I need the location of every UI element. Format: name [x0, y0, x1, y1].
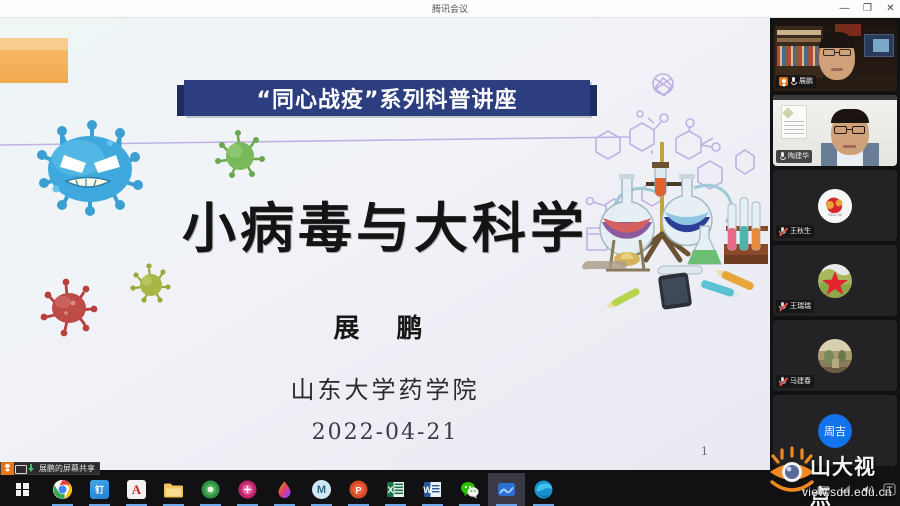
powerpoint-icon: P — [349, 480, 368, 499]
participant-name: 陶建华 — [788, 150, 809, 163]
participant-label: 马建春 — [776, 375, 814, 388]
screen-share-text: 展鹏的屏幕共享 — [37, 463, 95, 474]
participant-tile[interactable]: 马建春 — [773, 320, 897, 391]
word-icon: W — [423, 480, 442, 499]
participant-tile[interactable]: 周吉 — [773, 395, 897, 466]
maximize-button[interactable]: ❐ — [862, 0, 873, 18]
mic-muted-icon — [779, 227, 788, 236]
blue-app-icon: 钉 — [90, 480, 109, 499]
svg-text:W: W — [423, 485, 432, 495]
taskbar-item-mendeley[interactable]: M — [303, 473, 340, 506]
wifi-icon[interactable] — [839, 483, 852, 496]
green-app-icon — [201, 480, 220, 499]
windows-logo-icon — [16, 483, 29, 496]
participant-name: 展鹏 — [799, 75, 813, 88]
taskbar-item-acrobat[interactable]: A — [118, 473, 155, 506]
taskbar-item-edge[interactable] — [525, 473, 562, 506]
svg-text:SDU 50: SDU 50 — [828, 212, 843, 217]
mic-icon — [779, 152, 786, 161]
minimize-button[interactable]: — — [839, 0, 850, 18]
slide-date: 2022-04-21 — [0, 420, 770, 445]
participant-label: 展鹏 — [776, 75, 816, 88]
participant-label: 王瑞瑞 — [776, 300, 814, 313]
avatar-initials: 周吉 — [818, 414, 852, 448]
window-title: 腾讯会议 — [0, 0, 900, 18]
shared-screen-stage[interactable]: “同心战疫”系列科普讲座 — [0, 18, 770, 473]
taskbar-item-chrome[interactable] — [44, 473, 81, 506]
network-icon[interactable] — [817, 483, 830, 496]
taskbar-item-excel[interactable]: X — [377, 473, 414, 506]
participant-name: 王秋生 — [790, 225, 811, 238]
participant-tile[interactable]: SDU 50 王秋生 — [773, 170, 897, 241]
close-button[interactable]: ✕ — [885, 0, 896, 18]
participant-name: 王瑞瑞 — [790, 300, 811, 313]
tencent-meeting-icon — [497, 480, 516, 499]
edge-icon — [534, 480, 553, 499]
wechat-icon — [460, 480, 479, 499]
adobe-acrobat-icon: A — [127, 480, 146, 499]
meeting-app-window: 腾讯会议 — ❐ ✕ — [0, 0, 900, 506]
chrome-icon — [53, 480, 72, 499]
slide-title: 小病毒与大科学 — [0, 184, 770, 263]
system-tray[interactable] — [795, 473, 900, 506]
ime-icon[interactable] — [883, 483, 896, 496]
taskbar-item-powerpoint[interactable]: P — [340, 473, 377, 506]
colorful-droplet-icon — [275, 480, 294, 499]
participant-tile[interactable]: 展鹏 — [773, 20, 897, 91]
green-virus — [215, 130, 265, 178]
taskbar-item-green-app[interactable] — [192, 473, 229, 506]
mic-icon — [790, 77, 797, 86]
excel-icon: X — [386, 480, 405, 499]
mendeley-icon: M — [312, 480, 331, 499]
participant-name: 马建春 — [790, 375, 811, 388]
avatar — [818, 339, 852, 373]
volume-icon[interactable] — [861, 483, 874, 496]
presentation-slide: “同心战疫”系列科普讲座 — [0, 18, 770, 470]
start-button[interactable] — [0, 473, 44, 506]
mic-muted-icon — [779, 302, 788, 311]
participant-tile[interactable]: 陶建华 — [773, 95, 897, 166]
title-bar: 腾讯会议 — ❐ ✕ — [0, 0, 900, 18]
monitor-icon — [14, 462, 26, 475]
participant-sidebar[interactable]: 展鹏 — [770, 18, 900, 473]
avatar: 周吉 — [818, 414, 852, 448]
participant-label: 陶建华 — [776, 150, 812, 163]
download-icon — [26, 462, 37, 475]
taskbar-item-magenta-app[interactable] — [229, 473, 266, 506]
windows-taskbar[interactable]: 钉 A — [0, 473, 900, 506]
window-controls: — ❐ ✕ — [839, 0, 896, 18]
slide-page-number: 1 — [701, 445, 708, 458]
magenta-app-icon — [238, 480, 257, 499]
taskbar-item-blue-app[interactable]: 钉 — [81, 473, 118, 506]
olive-virus — [130, 263, 170, 302]
file-explorer-icon — [164, 480, 183, 499]
svg-text:X: X — [387, 485, 393, 495]
taskbar-item-word[interactable]: W — [414, 473, 451, 506]
mic-muted-icon — [779, 377, 788, 386]
host-icon — [1, 462, 14, 475]
chevron-up-icon[interactable] — [795, 483, 808, 496]
taskbar-item-wechat[interactable] — [451, 473, 488, 506]
participant-tile[interactable]: 王瑞瑞 — [773, 245, 897, 316]
screen-share-indicator[interactable]: 展鹏的屏幕共享 — [0, 462, 100, 475]
slide-banner-text: “同心战疫”系列科普讲座 — [257, 82, 518, 114]
meeting-body: “同心战疫”系列科普讲座 — [0, 18, 900, 473]
participant-label: 王秋生 — [776, 225, 814, 238]
slide-banner: “同心战疫”系列科普讲座 — [184, 80, 590, 116]
taskbar-item-file-explorer[interactable] — [155, 473, 192, 506]
avatar — [818, 264, 852, 298]
avatar: SDU 50 — [818, 189, 852, 223]
slide-presenter: 展 鹏 — [0, 308, 770, 345]
host-icon — [779, 77, 788, 86]
svg-text:P: P — [355, 486, 361, 496]
taskbar-item-droplet[interactable] — [266, 473, 303, 506]
taskbar-item-tencent-meeting[interactable] — [488, 473, 525, 506]
slide-affiliation: 山东大学药学院 — [0, 370, 770, 405]
